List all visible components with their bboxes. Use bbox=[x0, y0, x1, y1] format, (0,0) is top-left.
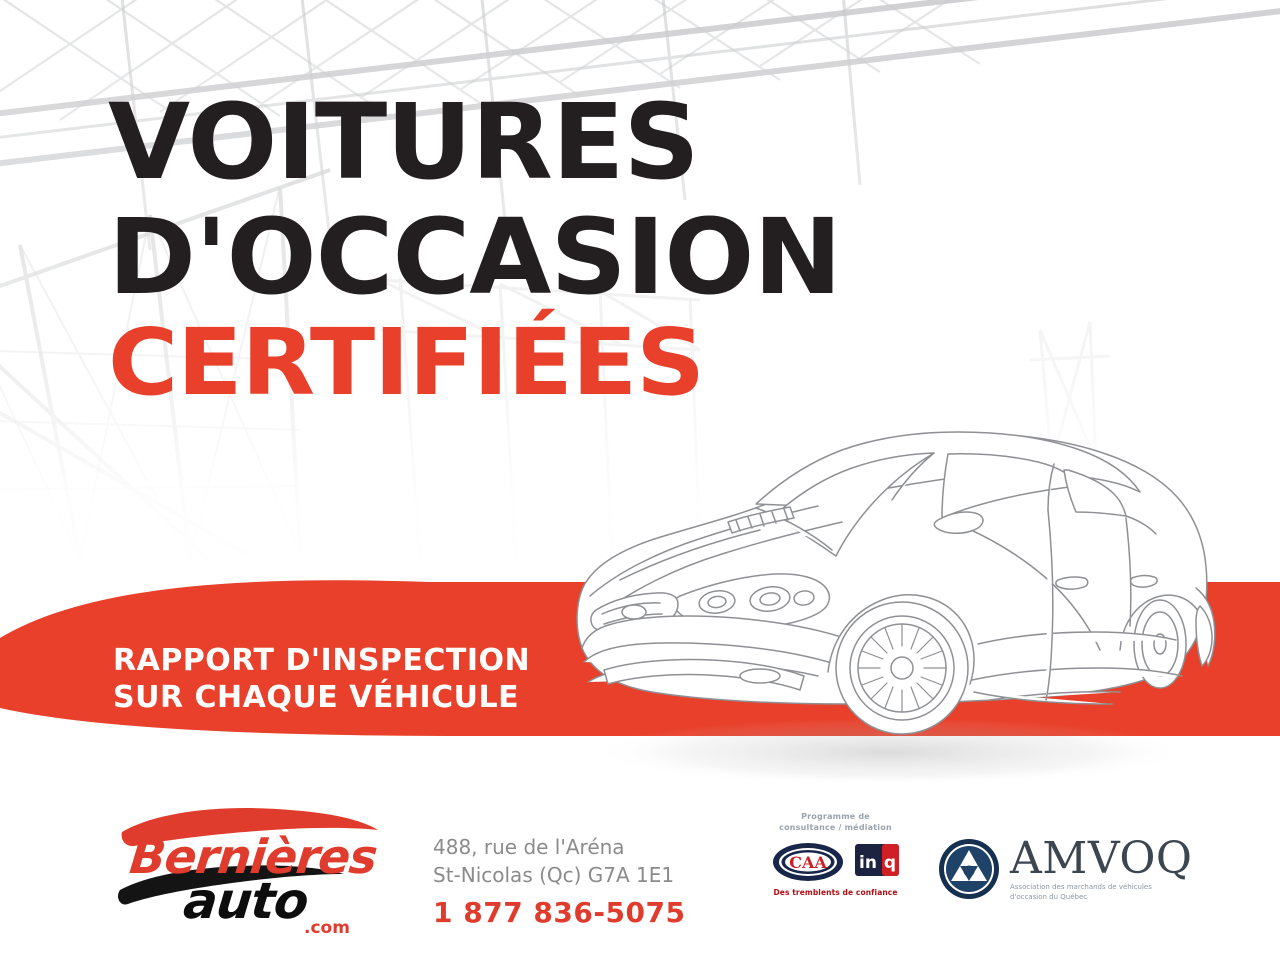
address-city-postal: St-Nicolas (Qc) G7A 1E1 bbox=[433, 861, 723, 889]
svg-text:CAA: CAA bbox=[789, 853, 827, 872]
caa-icon: CAA bbox=[771, 840, 845, 884]
footer-bar: Bernières auto .com 488, rue de l'Aréna … bbox=[0, 790, 1280, 960]
caa-logo-row: CAA in q bbox=[748, 840, 923, 884]
address-street: 488, rue de l'Aréna bbox=[433, 833, 723, 861]
contact-block: 488, rue de l'Aréna St-Nicolas (Qc) G7A … bbox=[433, 833, 723, 929]
banner-line-1: RAPPORT D'INSPECTION bbox=[113, 643, 530, 680]
svg-text:in: in bbox=[859, 853, 877, 873]
logo-word-text: auto bbox=[181, 872, 311, 930]
caa-caption-line-1: Programme de bbox=[748, 812, 923, 823]
headline-line-1: VOITURES bbox=[108, 92, 841, 193]
headline-block: VOITURES D'OCCASION CERTIFIÉES bbox=[108, 92, 827, 407]
svg-text:q: q bbox=[884, 853, 896, 873]
banner-line-2: SUR CHAQUE VÉHICULE bbox=[113, 680, 530, 717]
dealer-logo[interactable]: Bernières auto .com bbox=[112, 798, 382, 938]
logo-tld-text: .com bbox=[304, 918, 350, 938]
amvoq-subtitle: Association des marchands de véhicules d… bbox=[1010, 882, 1185, 902]
headline-line-3-certified: CERTIFIÉES bbox=[108, 318, 856, 407]
phone-number[interactable]: 1 877 836-5075 bbox=[433, 896, 723, 929]
vehicle-line-drawing bbox=[560, 400, 1260, 800]
headline-line-2: D'OCCASION bbox=[108, 207, 841, 308]
caa-footnote: Des tremblents de confiance bbox=[748, 888, 923, 897]
amvoq-wordmark: AMVOQ bbox=[1010, 838, 1192, 880]
caa-partner-mark-icon: in q bbox=[854, 842, 900, 882]
amvoq-partner-block: AMVOQ Association des marchands de véhic… bbox=[938, 838, 1192, 902]
caa-caption-line-2: consultance / médiation bbox=[748, 823, 923, 834]
amvoq-icon bbox=[938, 838, 1000, 900]
advertisement-banner: VOITURES D'OCCASION CERTIFIÉES RAPPORT D… bbox=[0, 0, 1280, 960]
caa-partner-block: Programme de consultance / médiation CAA… bbox=[748, 812, 923, 897]
banner-text-block: RAPPORT D'INSPECTION SUR CHAQUE VÉHICULE bbox=[113, 643, 530, 716]
